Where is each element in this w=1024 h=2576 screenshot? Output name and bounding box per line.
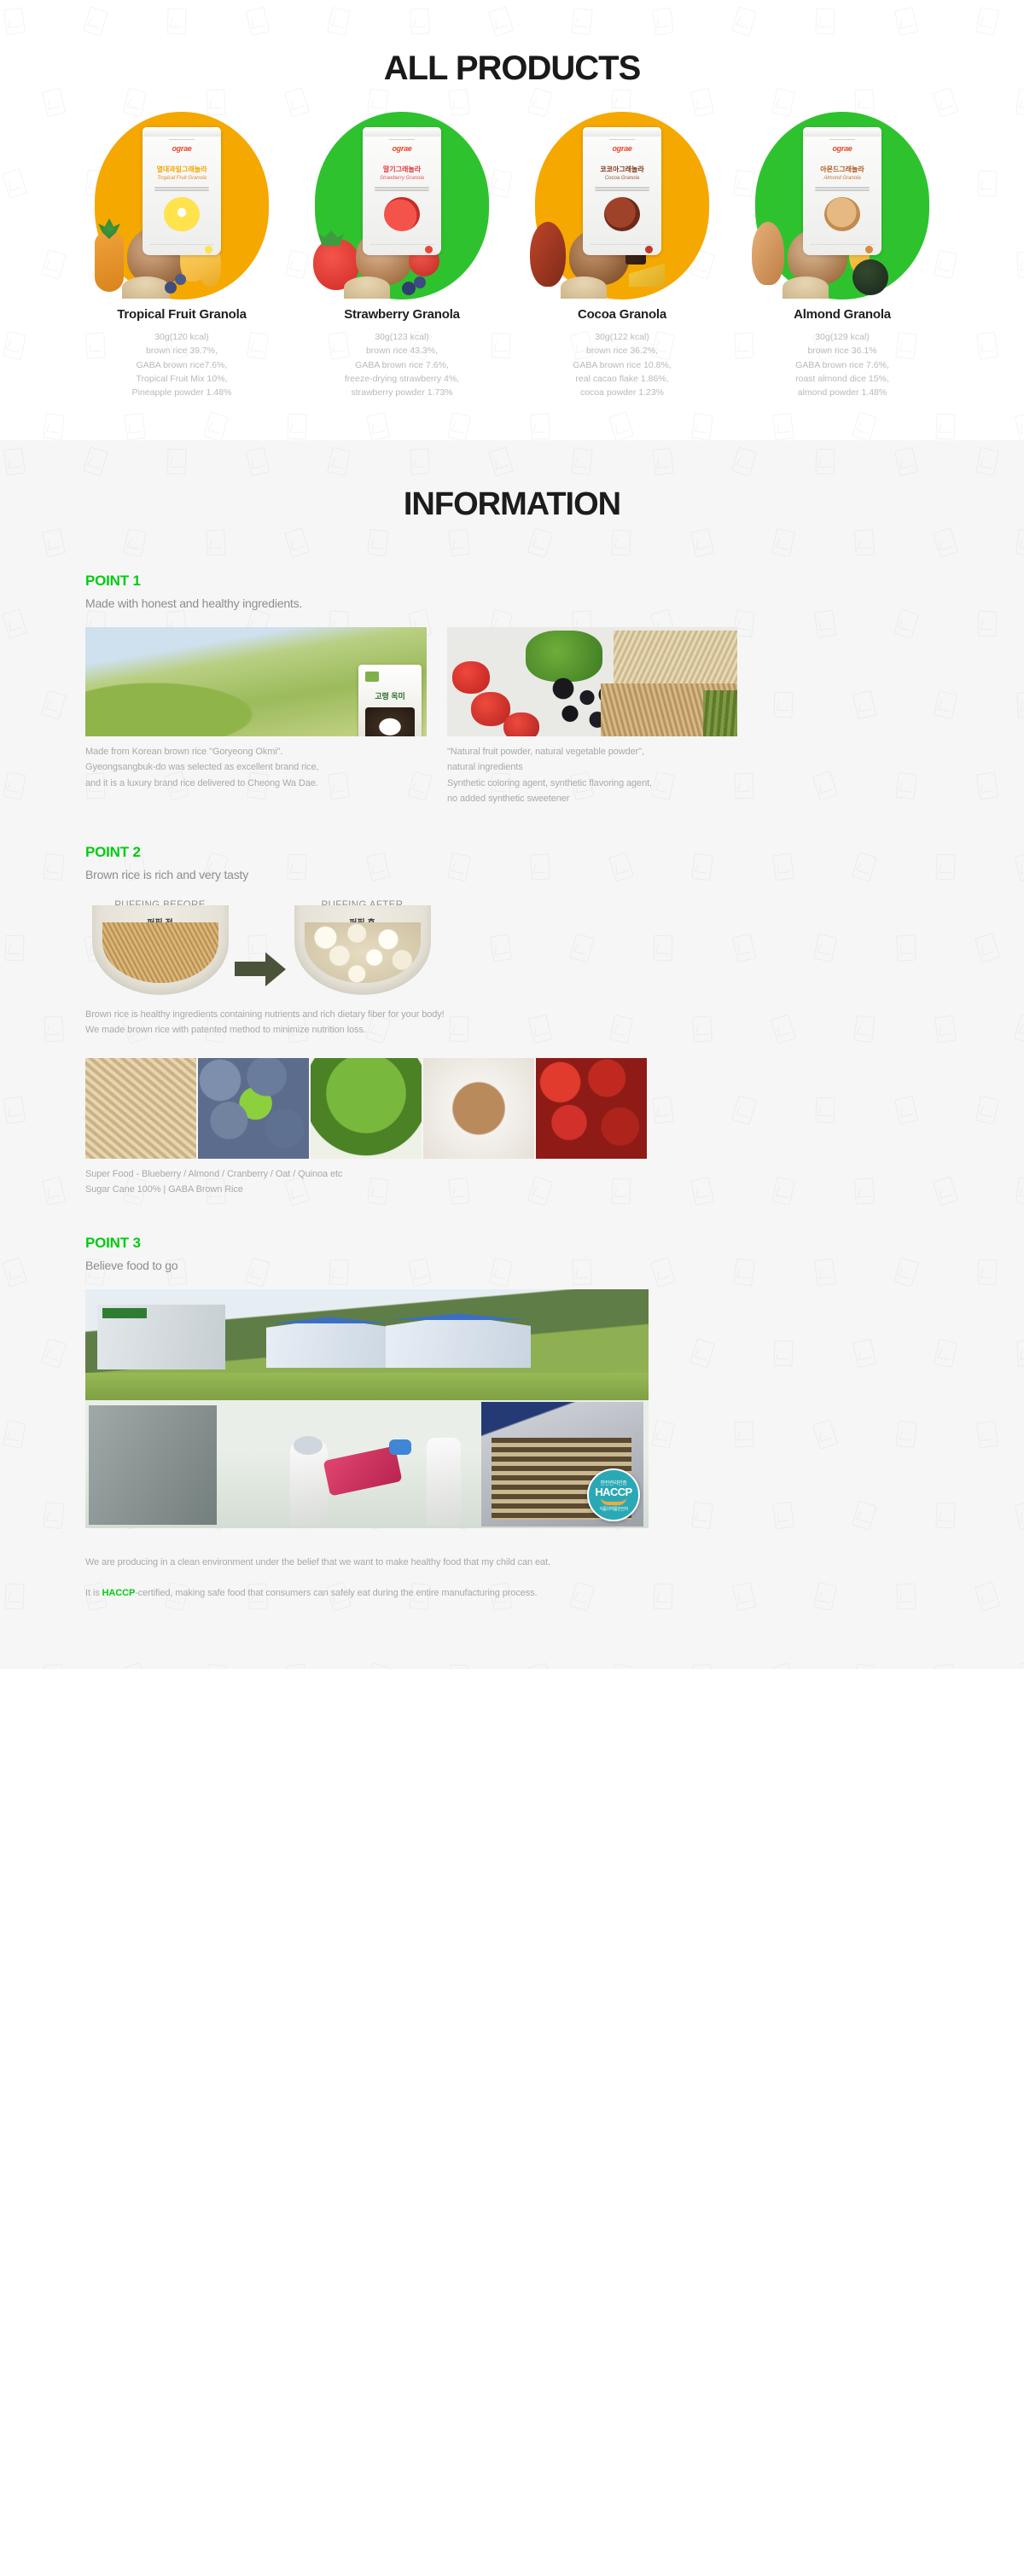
product-detail-page: ALL PRODUCTS ograe 열대과일그래놀라 Tropical Fru… [0,0,1024,1669]
product-card-tropical-fruit-granola[interactable]: ograe 열대과일그래놀라 Tropical Fruit Granola [79,112,284,399]
product-name: Tropical Fruit Granola [79,307,284,322]
pouch-description-lines [595,185,649,192]
product-name: Almond Granola [740,307,945,322]
superfood-line-2: Sugar Cane 100% | GABA Brown Rice [85,1184,243,1195]
point-2-caption: Brown rice is healthy ingredients contai… [85,1007,939,1038]
haccp-bottom-text: 식품의약품안전처 [599,1506,628,1512]
information-section: INFORMATION POINT 1 Made with honest and… [0,440,1024,1669]
point-3-block: POINT 3 Believe food to go [85,1235,939,1601]
brand-logo-text: ograe [612,144,631,153]
broccoli-photo [311,1058,422,1159]
product-spec: 30g(129 kcal) brown rice 36.1% GABA brow… [740,330,945,399]
brand-logo-text: ograe [832,144,852,153]
pouch-english-name: Cocoa Granola [605,176,639,181]
product-name: Cocoa Granola [520,307,724,322]
pouch-korean-name: 아몬드그래놀라 [820,165,864,174]
puffing-before: PUFFING BEFORE 퍼핑 전 [85,900,235,995]
bowl-after: 퍼핑 후 [294,905,431,995]
point-3-label: POINT 3 [85,1235,939,1252]
raw-brown-rice-grains [102,922,218,983]
pouch-description-lines [815,185,870,192]
rice-bag-label: 고령 옥미 [358,690,422,701]
product-spec: 30g(120 kcal) brown rice 39.7%, GABA bro… [79,330,284,399]
pouch-korean-name: 딸기그래놀라 [383,165,421,174]
pouch-footer [810,244,875,250]
factory-interior-photo: 안전관리인증 HACCP 식품의약품안전처 [85,1400,649,1528]
product-name: Strawberry Granola [300,307,504,322]
haccp-badge: 안전관리인증 HACCP 식품의약품안전처 [587,1468,640,1521]
haccp-smile-shape [601,1497,626,1505]
product-circle-badge: ograe 열대과일그래놀라 Tropical Fruit Granola [79,112,284,214]
product-pouch-image: ograe 열대과일그래놀라 Tropical Fruit Granola [143,127,221,255]
pouch-description-lines [154,185,209,192]
blueberries-photo [198,1058,309,1159]
point-3-subtitle: Believe food to go [85,1259,939,1272]
product-circle-badge: ograe 코코아그래놀라 Cocoa Granola [520,112,724,214]
point-1-images: 고령 옥미 Made from Korean brown rice "Gorye… [85,627,939,806]
bowl-before: 퍼핑 전 [92,905,229,995]
product-card-almond-granola[interactable]: ograe 아몬드그래놀라 Almond Granola Almond [740,112,945,399]
rice-field-photo: 고령 옥미 [85,627,427,736]
product-pouch-image: ograe 딸기그래놀라 Strawberry Granola [363,127,441,255]
almonds-in-bowl-photo [423,1058,534,1159]
superfood-image-strip [85,1058,649,1159]
pouch-korean-name: 코코아그래놀라 [600,165,644,174]
point-2-label: POINT 2 [85,844,939,861]
product-pouch-image: ograe 아몬드그래놀라 Almond Granola [803,127,881,255]
cranberries-photo [536,1058,647,1159]
pouch-english-name: Strawberry Granola [380,176,424,181]
pouch-description-lines [375,185,429,192]
page-title: ALL PRODUCTS [0,34,1024,88]
haccp-highlight: HACCP [102,1588,136,1598]
point-1-subtitle: Made with honest and healthy ingredients… [85,596,939,610]
point-2-subtitle: Brown rice is rich and very tasty [85,868,939,881]
pineapple-photo [164,197,200,231]
arrow-right-icon [235,952,288,986]
point-1-block: POINT 1 Made with honest and healthy ing… [85,573,939,806]
point-3-caption-suffix: -certified, making safe food that consum… [135,1588,537,1598]
product-spec: 30g(122 kcal) brown rice 36.2%, GABA bro… [520,330,724,399]
pouch-english-name: Tropical Fruit Granola [157,176,207,181]
product-card-cocoa-granola[interactable]: ograe 코코아그래놀라 Cocoa Granola Cocoa Gr [520,112,724,399]
puffing-comparison: PUFFING BEFORE 퍼핑 전 PUFFING AFTER 퍼핑 후 [85,900,452,995]
point-3-caption-prefix: It is [85,1588,102,1598]
point-1-caption-right: "Natural fruit powder, natural vegetable… [447,744,737,806]
factory-exterior-photo [85,1289,649,1400]
pouch-korean-name: 열대과일그래놀라 [157,165,207,174]
point-1-caption-left: Made from Korean brown rice "Goryeong Ok… [85,744,427,790]
pouch-footer [590,244,655,250]
point-3-caption: We are producing in a clean environment … [85,1538,939,1601]
pouch-footer [149,244,214,250]
pouch-english-name: Almond Granola [823,176,860,181]
point-3-caption-line-1: We are producing in a clean environment … [85,1557,550,1567]
product-spec: 30g(123 kcal) brown rice 43.3%, GABA bro… [300,330,504,399]
cacao-photo [604,197,640,231]
product-pouch-image: ograe 코코아그래놀라 Cocoa Granola [583,127,661,255]
puffing-after: PUFFING AFTER 퍼핑 후 [288,900,437,995]
point-3-images: 안전관리인증 HACCP 식품의약품안전처 [85,1289,649,1528]
product-circle-badge: ograe 딸기그래놀라 Strawberry Granola [300,112,504,214]
information-title: INFORMATION [85,486,939,523]
product-list: ograe 열대과일그래놀라 Tropical Fruit Granola [0,112,1024,399]
point-1-label: POINT 1 [85,573,939,590]
oat-flakes-photo [85,1058,196,1159]
strawberry-photo [384,197,420,231]
product-card-strawberry-granola[interactable]: ograe 딸기그래놀라 Strawberry Granola [300,112,504,399]
pouch-footer [369,244,434,250]
almond-photo [824,197,860,231]
all-products-section: ALL PRODUCTS ograe 열대과일그래놀라 Tropical Fru… [0,0,1024,440]
brand-logo-text: ograe [392,144,411,153]
point-2-block: POINT 2 Brown rice is rich and very tast… [85,844,939,1198]
superfood-caption: Super Food - Blueberry / Almond / Cranbe… [85,1166,939,1197]
haccp-main-text: HACCP [595,1486,631,1498]
superfood-line-1: Super Food - Blueberry / Almond / Cranbe… [85,1169,342,1179]
product-circle-badge: ograe 아몬드그래놀라 Almond Granola [740,112,945,214]
brand-logo-text: ograe [172,144,191,153]
puffed-brown-rice-grains [305,922,421,983]
ingredients-photo [447,627,737,736]
